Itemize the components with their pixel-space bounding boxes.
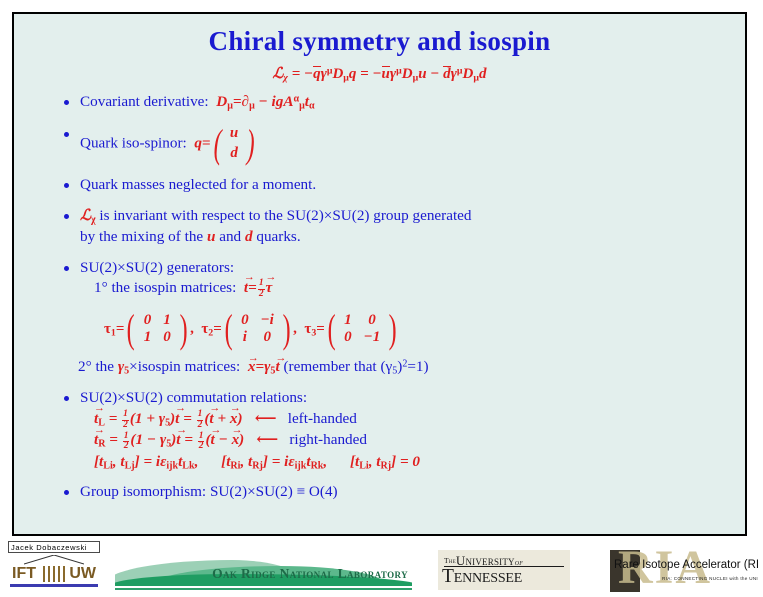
ift-label: IFT bbox=[12, 565, 36, 583]
left-handed-relation: →tL = 12(1 + γ5)→t = 12(→t + →x) ⟵ left-… bbox=[94, 409, 727, 431]
isospin-matrices-formula: →t=12→τ bbox=[240, 279, 272, 296]
isospin-matrices-line: 1° the isospin matrices: →t=12→τ bbox=[80, 278, 727, 300]
invariance-prefix: by the mixing of the bbox=[80, 228, 203, 245]
tau1-cell-00: 0 bbox=[138, 312, 158, 329]
page-title: Chiral symmetry and isospin bbox=[14, 26, 745, 57]
d-quark-symbol: d bbox=[245, 228, 253, 245]
tau2-cell-00: 0 bbox=[235, 312, 255, 329]
tau2-cell-11: 0 bbox=[255, 329, 280, 346]
tau3-matrix: τ3=( 10 0−1 ) bbox=[304, 312, 399, 346]
relations-block: →tL = 12(1 + γ5)→t = 12(→t + →x) ⟵ left-… bbox=[80, 409, 727, 473]
gamma5-isospin-formula: →x=γ5→t bbox=[244, 358, 283, 375]
gamma5-note: (remember that (γ5)2=1) bbox=[283, 358, 428, 375]
right-handed-label: right-handed bbox=[289, 431, 367, 448]
slide-root: Chiral symmetry and isospin ℒχ = −qγμDμq… bbox=[0, 0, 763, 597]
ria-headline: Rare Isotope Accelerator (RIA) bbox=[614, 559, 758, 571]
bullet-dot-icon bbox=[64, 490, 69, 495]
right-handed-relation: →tR = 12(1 − γ5)→t = 12(→t − →x) ⟵ right… bbox=[94, 430, 727, 452]
ria-logo: RIA Rare Isotope Accelerator (RIA) RIA: … bbox=[610, 550, 758, 592]
spinor-top: u bbox=[224, 124, 244, 144]
commutator-LL: [tLi, tLj] = iεijktLk, bbox=[94, 453, 198, 470]
ift-uw-logo: IFT UW bbox=[10, 555, 98, 593]
item-two-label: 2° the γ5×isospin matrices: bbox=[78, 358, 240, 375]
quark-isospinor-label: Quark iso-spinor: bbox=[80, 134, 187, 151]
tau1-cell-01: 1 bbox=[157, 312, 177, 329]
bullet-dot-icon bbox=[64, 214, 69, 219]
commutator-RR: [tRi, tRj] = iεijktRk, bbox=[221, 453, 327, 470]
lchi-symbol: ℒχ bbox=[80, 207, 96, 224]
matrix-sep-2: , bbox=[293, 321, 301, 337]
pauli-matrices-row: τ1=( 01 10 ) , τ2=( 0−i i0 ) , τ3=( 10 0… bbox=[104, 312, 727, 346]
commutation-label: SU(2)×SU(2) commutation relations: bbox=[80, 389, 307, 406]
tau2-cell-10: i bbox=[235, 329, 255, 346]
commutator-LR: [tLi, tRj] = 0 bbox=[350, 453, 420, 470]
ornl-label: Oak Ridge National Laboratory bbox=[212, 566, 408, 582]
tau3-cell-01: 0 bbox=[358, 312, 387, 329]
left-arrow-icon: ⟵ bbox=[246, 410, 284, 427]
bullet-commutation: SU(2)×SU(2) commutation relations: →tL =… bbox=[64, 388, 727, 473]
tau3-cell-00: 1 bbox=[338, 312, 358, 329]
tau2-matrix: τ2=( 0−i i0 ) bbox=[201, 312, 293, 346]
tau1-label: τ1= bbox=[104, 321, 124, 337]
author-name-box: Jacek Dobaczewski bbox=[8, 541, 100, 553]
covariant-derivative-formula: Dμ=∂μ − igAαμtα bbox=[212, 93, 314, 110]
logo-base-bar bbox=[10, 584, 98, 587]
ria-tagline: RIA: CONNECTING NUCLEI with the UNIVERSE bbox=[662, 576, 758, 581]
bullet-covariant-derivative: Covariant derivative: Dμ=∂μ − igAαμtα bbox=[64, 92, 727, 113]
oak-ridge-logo: Oak Ridge National Laboratory bbox=[115, 550, 412, 593]
slide-frame: Chiral symmetry and isospin ℒχ = −qγμDμq… bbox=[12, 12, 747, 536]
tau1-cell-10: 1 bbox=[138, 329, 158, 346]
invariance-suffix: quarks. bbox=[256, 228, 300, 245]
invariance-conjunction: and bbox=[219, 228, 241, 245]
ria-watermark: RIA bbox=[618, 550, 712, 592]
left-handed-label: left-handed bbox=[288, 410, 357, 427]
tau3-cell-11: −1 bbox=[358, 329, 387, 346]
tau2-cell-01: −i bbox=[255, 312, 280, 329]
bullet-dot-icon bbox=[64, 183, 69, 188]
generators-label: SU(2)×SU(2) generators: bbox=[80, 259, 234, 276]
bullet-quark-isospinor: Quark iso-spinor: q=( u d ) bbox=[64, 124, 727, 164]
ornl-rule bbox=[115, 588, 412, 590]
bullet-dot-icon bbox=[64, 132, 69, 137]
utk-the: The bbox=[444, 556, 456, 565]
invariance-text-line2: by the mixing of the u and d quarks. bbox=[80, 227, 727, 247]
isospinor-column: u d bbox=[224, 124, 244, 164]
bullet-invariance: ℒχ is invariant with respect to the SU(2… bbox=[64, 206, 727, 247]
group-isomorphism-label: Group isomorphism: bbox=[80, 483, 206, 500]
lagrangian-equation: ℒχ = −qγμDμq = −uγμDμu − dγμDμd bbox=[14, 64, 745, 83]
tau3-cell-10: 0 bbox=[338, 329, 358, 346]
uw-label: UW bbox=[69, 565, 96, 583]
covariant-derivative-label: Covariant derivative: bbox=[80, 93, 209, 110]
group-isomorphism-value: SU(2)×SU(2) ≡ O(4) bbox=[210, 483, 338, 500]
tau3-label: τ3= bbox=[304, 321, 324, 337]
bullet-dot-icon bbox=[64, 396, 69, 401]
bullet-generators: SU(2)×SU(2) generators: 1° the isospin m… bbox=[64, 258, 727, 300]
tau1-cell-11: 0 bbox=[157, 329, 177, 346]
commutator-relations: [tLi, tLj] = iεijktLk, [tRi, tRj] = iεij… bbox=[94, 452, 727, 473]
utk-tennessee: Tennessee bbox=[442, 566, 522, 588]
gamma5-isospin-line: 2° the γ5×isospin matrices: →x=γ5→t (rem… bbox=[78, 358, 727, 377]
bullet-dot-icon bbox=[64, 100, 69, 105]
bullet-quark-masses: Quark masses neglected for a moment. bbox=[64, 175, 727, 195]
slide-body: Covariant derivative: Dμ=∂μ − igAαμtα Qu… bbox=[14, 92, 745, 502]
quark-isospinor-formula: q=( u d ) bbox=[191, 124, 258, 164]
left-arrow-icon: ⟵ bbox=[248, 431, 286, 448]
bullet-dot-icon bbox=[64, 266, 69, 271]
u-quark-symbol: u bbox=[207, 228, 215, 245]
invariance-text-line1: is invariant with respect to the SU(2)×S… bbox=[99, 207, 471, 224]
columns-icon bbox=[43, 566, 65, 582]
pediment-icon bbox=[24, 555, 84, 565]
matrix-sep-1: , bbox=[190, 321, 198, 337]
university-of-tennessee-logo: TheUniversityof Tennessee bbox=[438, 550, 570, 590]
quark-masses-text: Quark masses neglected for a moment. bbox=[80, 176, 316, 193]
spinor-bottom: d bbox=[224, 144, 244, 164]
tau1-matrix: τ1=( 01 10 ) bbox=[104, 312, 190, 346]
tau2-label: τ2= bbox=[201, 321, 221, 337]
bullet-group-isomorphism: Group isomorphism: SU(2)×SU(2) ≡ O(4) bbox=[64, 482, 727, 502]
item-one-label: 1° the isospin matrices: bbox=[94, 279, 236, 296]
footer-logo-bar: Jacek Dobaczewski IFT UW Oak Ridge Natio… bbox=[0, 540, 763, 597]
